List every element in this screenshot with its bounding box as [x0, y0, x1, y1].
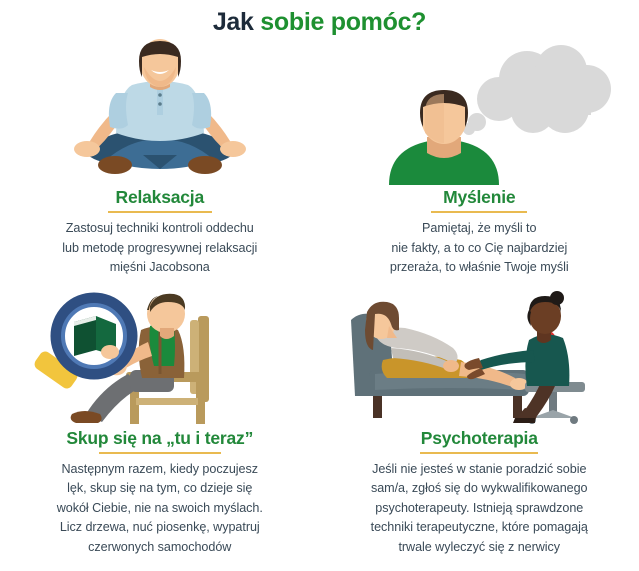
section-relaksacja: Relaksacja Zastosuj techniki kontroli od… [0, 37, 320, 278]
heading-underline-psychoterapia [420, 452, 538, 454]
heading-underline-tu-i-teraz [99, 452, 221, 454]
heading-underline-myslenie [431, 211, 527, 213]
thought-bubble-icon [463, 45, 611, 135]
page-title-dark: Jak [213, 8, 260, 36]
page-title-green: sobie pomóc? [260, 8, 426, 36]
therapy-session-illustration [329, 286, 629, 426]
section-heading-tu-i-teraz: Skup się na „tu i teraz” [66, 428, 253, 448]
body-line: przeraża, to właśnie Twoje myśli [390, 258, 569, 278]
body-line: wokół Ciebie, nie na swoich myślach. [57, 499, 263, 519]
body-line: techniki terapeutyczne, które pomagają [371, 518, 588, 538]
section-body-tu-i-teraz: Następnym razem, kiedy poczujesz lęk, sk… [57, 460, 263, 558]
body-line: Jeśli nie jesteś w stanie poradzić sobie [371, 460, 588, 480]
body-line: Pamiętaj, że myśli to [390, 219, 569, 239]
section-body-myslenie: Pamiętaj, że myśli to nie fakty, a to co… [390, 219, 569, 278]
body-line: Zastosuj techniki kontroli oddechu [62, 219, 257, 239]
section-tu-i-teraz: Skup się na „tu i teraz” Następnym razem… [0, 286, 320, 558]
body-line: sam/a, zgłoś się do wykwalifikowanego [371, 479, 588, 499]
body-line: nie fakty, a to co Cię najbardziej [390, 239, 569, 259]
section-myslenie: Myślenie Pamiętaj, że myśli to nie fakty… [320, 37, 639, 278]
body-line: Następnym razem, kiedy poczujesz [57, 460, 263, 480]
section-body-psychoterapia: Jeśli nie jesteś w stanie poradzić sobie… [371, 460, 588, 558]
body-line: czerwonych samochodów [57, 538, 263, 558]
body-line: trwale wyleczyć się z nerwicy [371, 538, 588, 558]
section-body-relaksacja: Zastosuj techniki kontroli oddechu lub m… [62, 219, 257, 278]
person-with-thought-bubble-illustration [329, 37, 629, 185]
body-line: Licz drzewa, nuć piosenkę, wypatruj [57, 518, 263, 538]
page-title: Jak sobie pomóc? [0, 0, 639, 37]
infographic-page: Jak sobie pomóc? [0, 0, 639, 571]
man-reading-book-with-magnifying-glass-illustration [10, 286, 310, 426]
section-heading-psychoterapia: Psychoterapia [421, 428, 538, 448]
heading-underline-relaksacja [108, 211, 212, 213]
sections-grid: Relaksacja Zastosuj techniki kontroli od… [0, 37, 639, 557]
body-line: lub metodę progresywnej relaksacji [62, 239, 257, 259]
section-heading-myslenie: Myślenie [443, 187, 515, 207]
body-line: psychoterapeuty. Istnieją sprawdzone [371, 499, 588, 519]
body-line: lęk, skup się na tym, co dzieje się [57, 479, 263, 499]
body-line: mięśni Jacobsona [62, 258, 257, 278]
meditating-man-lotus-pose-illustration [10, 37, 310, 185]
section-heading-relaksacja: Relaksacja [116, 187, 205, 207]
section-psychoterapia: Psychoterapia Jeśli nie jesteś w stanie … [320, 286, 639, 558]
